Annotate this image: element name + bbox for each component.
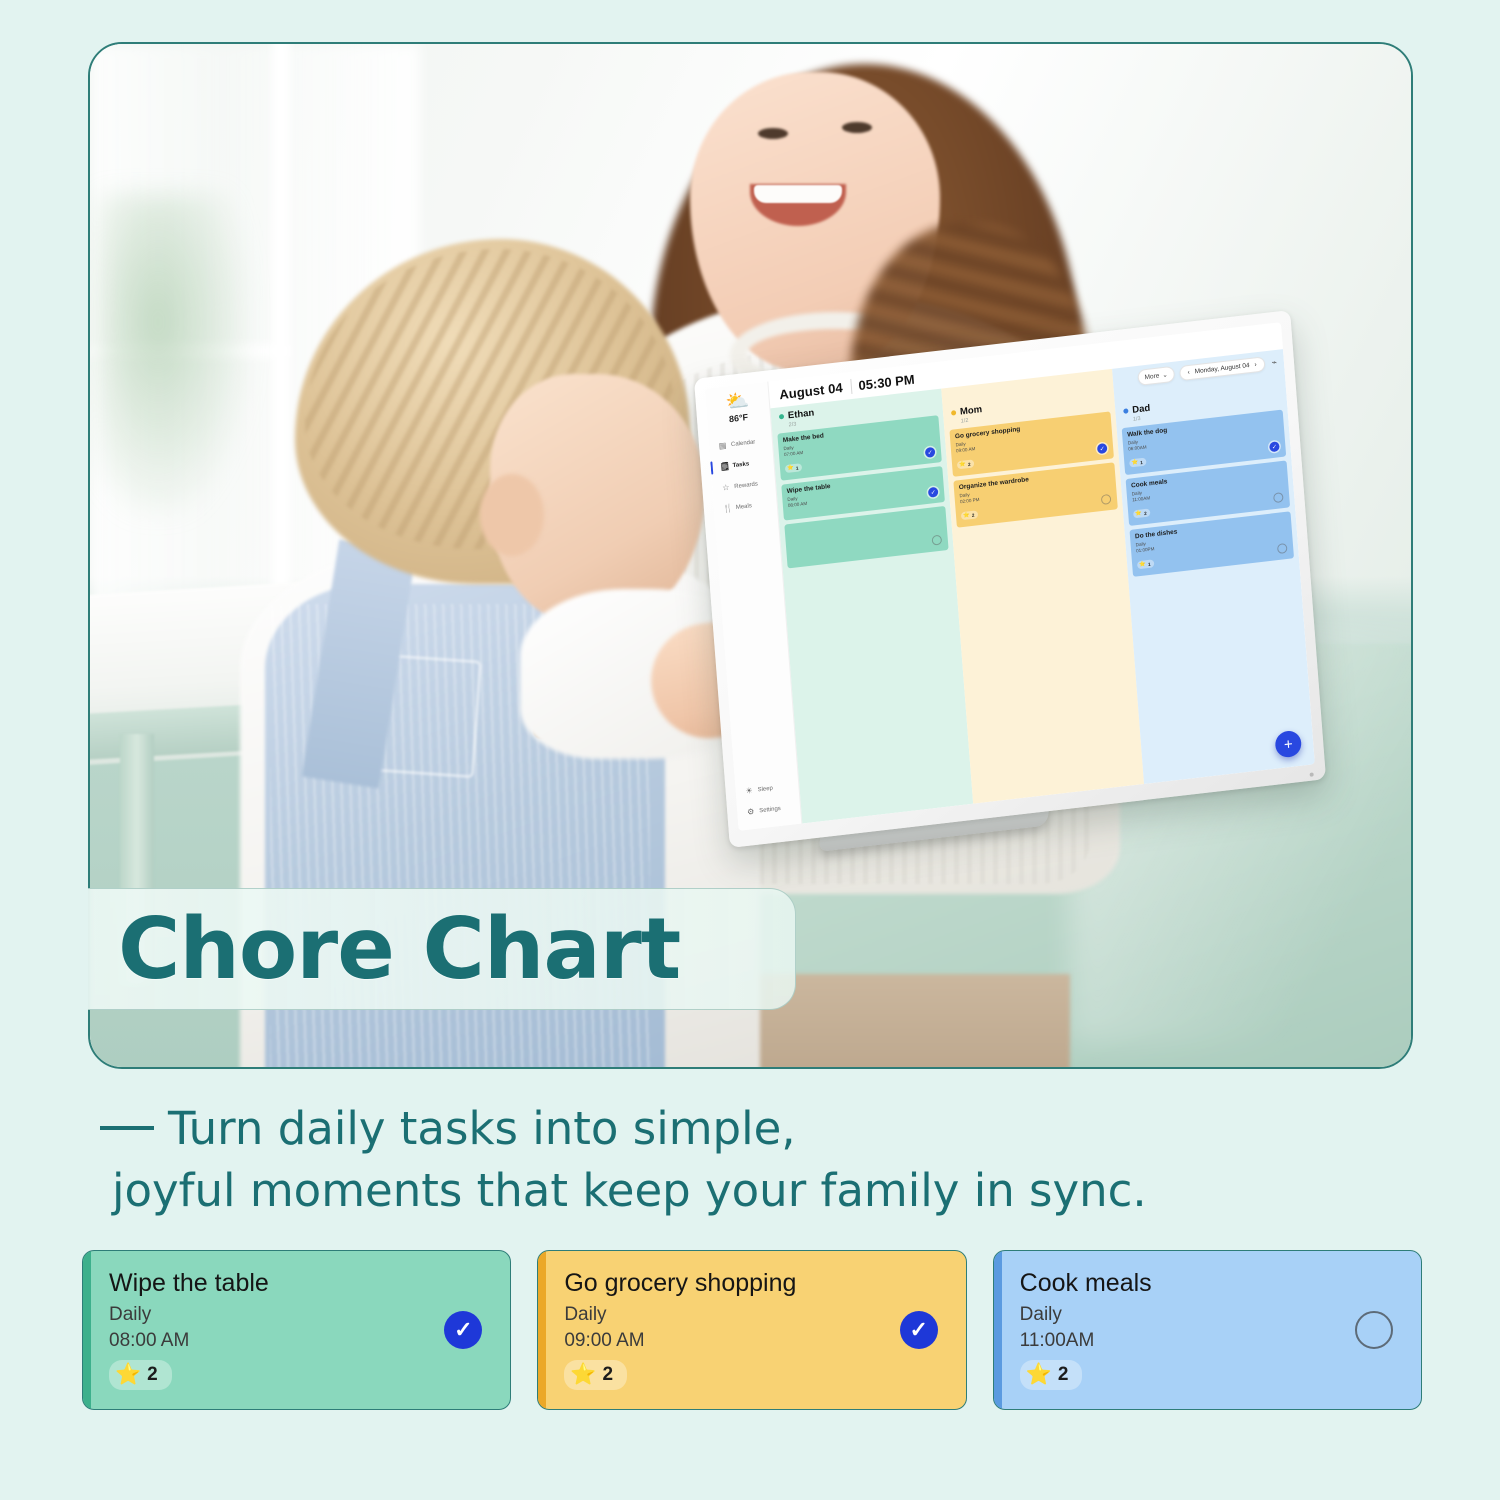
star-icon: ⭐: [1131, 459, 1138, 466]
star-outline-icon: ☆: [721, 483, 731, 493]
sun-cloud-icon: ⛅: [725, 391, 750, 414]
app-main: August 04 05:30 PM More ⌄ ‹ Monday, Augu…: [768, 322, 1315, 823]
card-repeat: Daily: [109, 1304, 488, 1326]
card-time: 08:00 AM: [109, 1330, 488, 1352]
star-count: 1: [796, 465, 799, 470]
tagline: Turn daily tasks into simple, joyful mom…: [100, 1098, 1400, 1222]
sidebar-item-label: Tasks: [732, 461, 749, 469]
task-star-badge: ⭐ 2: [1133, 508, 1151, 518]
card-accent-bar: [994, 1251, 1002, 1409]
card-title: Cook meals: [1020, 1269, 1399, 1298]
star-count: 2: [602, 1364, 613, 1386]
mother-left-eye: [758, 128, 788, 139]
task-uncheck-icon[interactable]: [1277, 543, 1288, 554]
device-indicator-led: [1310, 772, 1314, 776]
device-screen: ⛅ 86°F ▤ Calendar 🗒 Tasks ☆: [705, 322, 1315, 831]
houseplant: [98, 194, 248, 514]
card-star-badge: ⭐ 2: [1020, 1360, 1083, 1390]
feature-card-wipe-the-table[interactable]: Wipe the table Daily 08:00 AM ⭐ 2 ✓: [82, 1250, 511, 1410]
card-accent-bar: [83, 1251, 91, 1409]
circle-outline-icon[interactable]: [1355, 1311, 1393, 1349]
page-title-banner: Chore Chart: [88, 888, 796, 1010]
card-repeat: Daily: [1020, 1304, 1399, 1326]
device-bezel: ⛅ 86°F ▤ Calendar 🗒 Tasks ☆: [694, 310, 1326, 848]
header-time: 05:30 PM: [850, 372, 915, 394]
star-count: 2: [147, 1364, 158, 1386]
star-count: 2: [972, 512, 975, 517]
em-dash-icon: [100, 1126, 154, 1130]
check-filled-icon[interactable]: ✓: [900, 1311, 938, 1349]
sidebar-nav: ▤ Calendar 🗒 Tasks ☆ Rewards 🍴: [708, 429, 777, 520]
weather-widget[interactable]: ⛅ 86°F: [725, 391, 751, 425]
task-star-badge: ⭐ 2: [961, 510, 979, 520]
task-star-badge: ⭐ 1: [1129, 458, 1147, 468]
feature-card-row: Wipe the table Daily 08:00 AM ⭐ 2 ✓ Go g…: [82, 1250, 1422, 1410]
member-column-dad: Dad 1/3 Walk the dog Daily 06:00AM ⭐: [1112, 349, 1315, 784]
sun-icon: ☀: [744, 786, 754, 796]
status-dot: [1123, 408, 1128, 414]
tagline-text-1: Turn daily tasks into simple,: [168, 1102, 796, 1155]
feature-card-go-grocery-shopping[interactable]: Go grocery shopping Daily 09:00 AM ⭐ 2 ✓: [537, 1250, 966, 1410]
utensils-icon: 🍴: [723, 503, 733, 513]
card-title: Go grocery shopping: [564, 1269, 943, 1298]
sidebar-item-label: Meals: [736, 503, 752, 511]
star-icon: ⭐: [963, 512, 970, 519]
status-dot: [779, 414, 784, 420]
task-check-icon[interactable]: ✓: [925, 447, 936, 458]
temperature-label: 86°F: [726, 412, 750, 425]
mother-teeth: [754, 185, 842, 203]
sidebar-item-label: Calendar: [731, 439, 756, 448]
smart-display-device: ⛅ 86°F ▤ Calendar 🗒 Tasks ☆: [694, 310, 1326, 848]
task-star-badge: ⭐ 1: [1137, 559, 1155, 569]
star-count: 2: [968, 461, 971, 466]
chevron-left-icon[interactable]: ‹: [1187, 368, 1190, 375]
card-star-badge: ⭐ 2: [109, 1360, 172, 1390]
task-uncheck-icon[interactable]: [1101, 494, 1112, 505]
feature-card-cook-meals[interactable]: Cook meals Daily 11:00AM ⭐ 2: [993, 1250, 1422, 1410]
more-label: More: [1144, 372, 1159, 381]
task-check-icon[interactable]: ✓: [1269, 441, 1280, 452]
boy-ear: [480, 474, 544, 556]
task-uncheck-icon[interactable]: [1273, 492, 1284, 503]
tagline-line-1: Turn daily tasks into simple,: [100, 1098, 1400, 1160]
card-title: Wipe the table: [109, 1269, 488, 1298]
member-column-mom: Mom 1/2 Go grocery shopping Daily 09:00 …: [941, 369, 1144, 804]
member-columns: Ethan 2/3 Make the bed Daily 07:00 AM ⭐: [770, 349, 1315, 823]
sidebar-item-label: Rewards: [734, 481, 758, 490]
page-title: Chore Chart: [118, 900, 680, 999]
header-date: August 04: [779, 380, 843, 402]
task-check-icon[interactable]: ✓: [1097, 443, 1108, 454]
calendar-icon: ▤: [718, 441, 728, 451]
star-icon: ⭐: [1139, 561, 1146, 568]
star-icon: ⭐: [787, 465, 794, 472]
star-icon: ⭐: [1026, 1363, 1052, 1387]
star-icon: ⭐: [570, 1363, 596, 1387]
chevron-down-icon: ⌄: [1162, 371, 1168, 380]
current-date-label: Monday, August 04: [1194, 362, 1249, 375]
sidebar-nav-bottom: ☀ Sleep ⚙ Settings: [735, 775, 801, 831]
gear-icon: ⚙: [746, 807, 756, 817]
card-time: 09:00 AM: [564, 1330, 943, 1352]
sidebar-item-label: Settings: [759, 805, 781, 813]
star-count: 2: [1144, 510, 1147, 515]
card-time: 11:00AM: [1020, 1330, 1399, 1352]
star-count: 1: [1148, 561, 1151, 566]
star-icon: ⭐: [959, 461, 966, 468]
card-star-badge: ⭐ 2: [564, 1360, 627, 1390]
check-filled-icon[interactable]: ✓: [444, 1311, 482, 1349]
task-star-badge: ⭐ 1: [785, 463, 803, 473]
tasks-board: More ⌄ ‹ Monday, August 04 › ⌁: [770, 349, 1315, 823]
task-check-icon[interactable]: ✓: [928, 487, 939, 498]
member-name: Dad: [1132, 403, 1151, 416]
task-star-badge: ⭐ 2: [957, 459, 975, 469]
member-column-ethan: Ethan 2/3 Make the bed Daily 07:00 AM ⭐: [770, 389, 973, 824]
chevron-right-icon[interactable]: ›: [1254, 361, 1257, 368]
tasks-icon: 🗒: [719, 462, 729, 472]
star-count: 1: [1140, 459, 1143, 464]
task-uncheck-icon[interactable]: [932, 535, 943, 546]
sidebar-item-label: Sleep: [757, 785, 773, 793]
star-count: 2: [1058, 1364, 1069, 1386]
tagline-line-2: joyful moments that keep your family in …: [100, 1160, 1400, 1222]
wifi-icon: ⌁: [1271, 356, 1277, 368]
star-icon: ⭐: [1135, 510, 1142, 517]
card-accent-bar: [538, 1251, 546, 1409]
card-repeat: Daily: [564, 1304, 943, 1326]
star-icon: ⭐: [115, 1363, 141, 1387]
status-dot: [951, 410, 956, 416]
mother-right-eye: [842, 122, 872, 133]
